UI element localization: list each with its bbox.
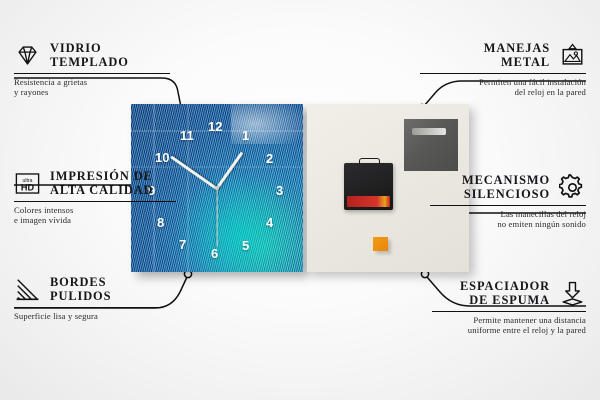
feature-vidrio-templado: VIDRIO TEMPLADO Resistencia a grietas y … <box>14 42 170 98</box>
polished-edges-icon <box>14 276 41 303</box>
infographic-stage: 12 1 2 3 4 5 6 7 8 9 10 11 <box>0 0 600 400</box>
clock-number-1: 1 <box>242 129 249 142</box>
clock-number-12: 12 <box>208 120 222 133</box>
divider <box>14 201 176 202</box>
feature-subtitle: Las manecillas del reloj no emiten ningú… <box>430 209 586 230</box>
divider <box>432 311 586 312</box>
clock-number-6: 6 <box>211 247 218 260</box>
foam-spacer <box>373 237 388 251</box>
clock-number-10: 10 <box>155 151 169 164</box>
divider <box>14 73 170 74</box>
feature-title: VIDRIO TEMPLADO <box>50 42 129 69</box>
clock-minute-hand <box>170 155 218 190</box>
divider <box>430 205 586 206</box>
feature-subtitle: Permiten una fácil instalación del reloj… <box>420 77 586 98</box>
feature-espaciador-espuma: ESPACIADOR DE ESPUMA Permite mantener un… <box>432 280 586 336</box>
metal-hanger-plate <box>404 119 457 171</box>
gear-icon <box>559 174 586 201</box>
foam-spacer-arrow-icon <box>559 280 586 307</box>
feature-title: ESPACIADOR DE ESPUMA <box>460 280 550 307</box>
battery <box>347 196 390 206</box>
mechanism-hook-tab <box>359 158 380 165</box>
diamond-icon <box>14 42 41 69</box>
feature-title: MECANISMO SILENCIOSO <box>462 174 550 201</box>
feature-title: BORDES PULIDOS <box>50 276 111 303</box>
quartz-mechanism-box <box>344 163 393 210</box>
clock-number-3: 3 <box>276 184 283 197</box>
feature-impresion-alta-calidad: ultra HD IMPRESIÓN DE ALTA CALIDAD Color… <box>14 170 176 226</box>
feature-title: MANEJAS METAL <box>484 42 550 69</box>
clock-number-5: 5 <box>242 239 249 252</box>
feature-title: IMPRESIÓN DE ALTA CALIDAD <box>50 170 153 197</box>
clock-number-4: 4 <box>266 216 273 229</box>
feature-bordes-pulidos: BORDES PULIDOS Superficie lisa y segura <box>14 276 162 321</box>
picture-frame-hanger-icon <box>559 42 586 69</box>
divider <box>14 307 162 308</box>
clock-number-7: 7 <box>179 238 186 251</box>
feature-subtitle: Permite mantener una distancia uniforme … <box>432 315 586 336</box>
clock-number-2: 2 <box>266 152 273 165</box>
ultra-hd-icon: ultra HD <box>14 170 41 197</box>
svg-text:HD: HD <box>21 183 35 193</box>
feature-manejas-metal: MANEJAS METAL Permiten una fácil instala… <box>420 42 586 98</box>
clock-hour-hand <box>216 152 244 190</box>
feature-subtitle: Superficie lisa y segura <box>14 311 162 321</box>
clock-second-hand <box>216 189 217 247</box>
clock-center-pin <box>215 186 219 190</box>
clock-number-11: 11 <box>180 129 194 142</box>
feature-subtitle: Colores intensos e imagen vívida <box>14 205 176 226</box>
divider <box>420 73 586 74</box>
feature-mecanismo-silencioso: MECANISMO SILENCIOSO Las manecillas del … <box>430 174 586 230</box>
feature-subtitle: Resistencia a grietas y rayones <box>14 77 170 98</box>
product-image: 12 1 2 3 4 5 6 7 8 9 10 11 <box>131 104 469 272</box>
